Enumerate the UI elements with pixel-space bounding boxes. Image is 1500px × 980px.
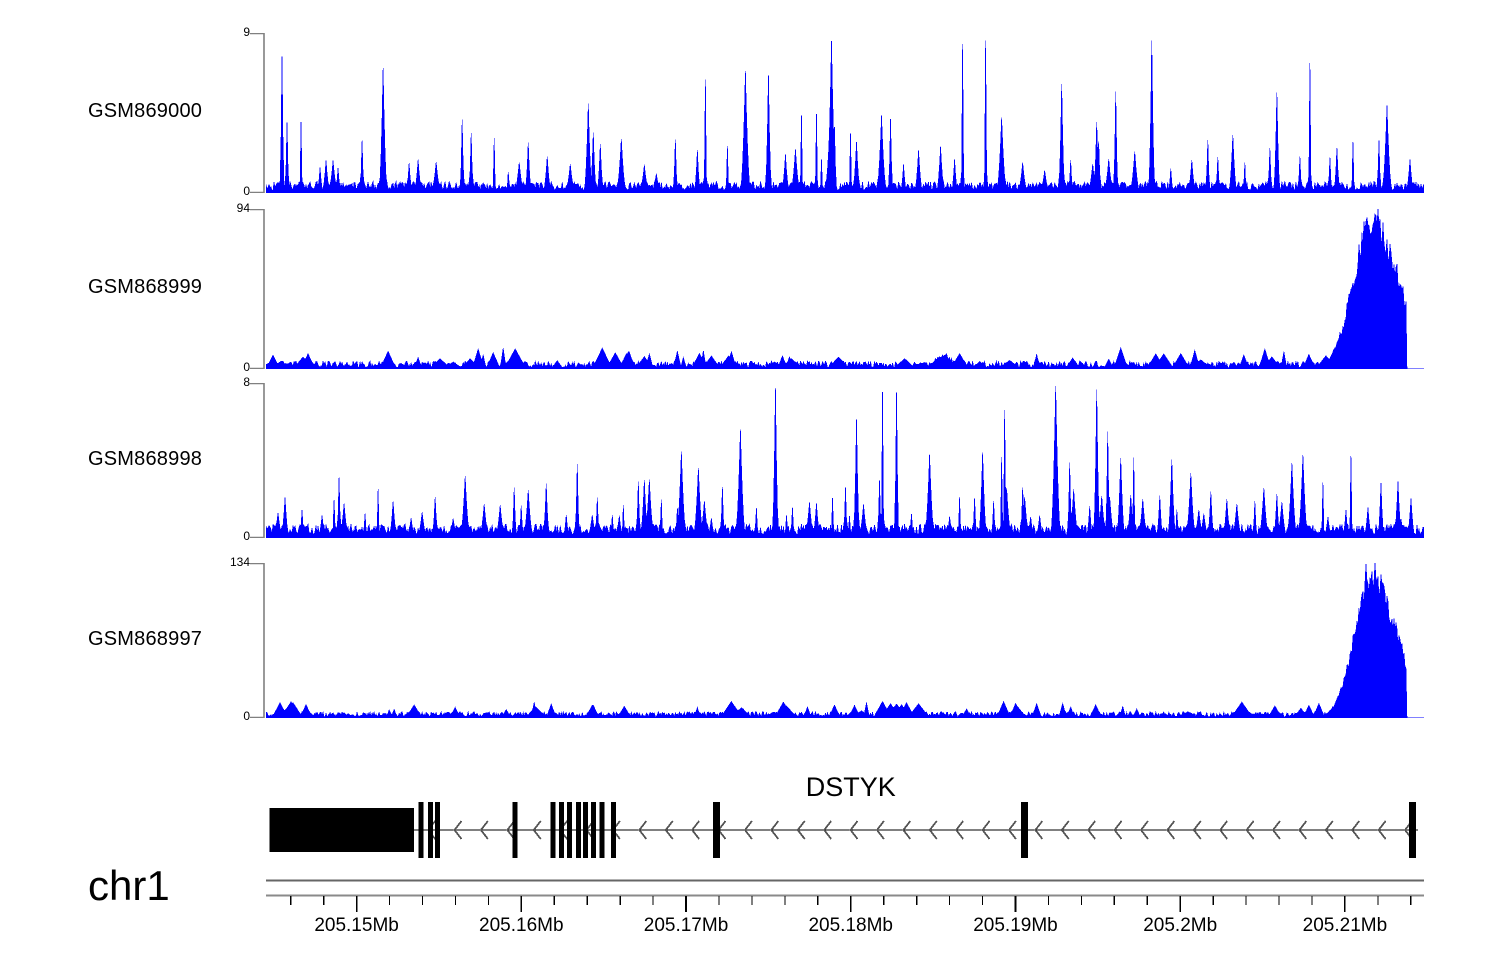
coverage-plot-gsm868997 (266, 563, 1424, 718)
gene-exon-bar (611, 802, 616, 858)
y-axis-min-gsm869000: 0 (194, 184, 250, 198)
gene-utr-block (269, 808, 414, 852)
gene-exon-bar (419, 802, 424, 858)
gene-exon-bar (428, 802, 433, 858)
ruler-tick-label-1: 205.16Mb (431, 915, 611, 937)
track-label-gsm868998: GSM868998 (88, 448, 202, 471)
coverage-plot-gsm868998 (266, 383, 1424, 538)
y-axis-bracket-gsm868999 (250, 209, 266, 369)
gene-model-track[interactable] (266, 780, 1424, 880)
y-axis-min-gsm868998: 0 (194, 529, 250, 543)
y-axis-bracket-gsm868997 (250, 563, 266, 718)
y-axis-max-gsm868997: 134 (194, 555, 250, 569)
gene-exon-bar (512, 802, 517, 858)
ruler-tick-label-2: 205.17Mb (596, 915, 776, 937)
track-label-gsm868999: GSM868999 (88, 276, 202, 299)
coverage-plot-gsm868999 (266, 209, 1424, 369)
gene-exon-bar (599, 802, 604, 858)
ruler-tick-label-4: 205.19Mb (925, 915, 1105, 937)
gene-exon-bar (583, 802, 588, 858)
genome-browser-view: GSM86900090GSM868999940GSM86899880GSM868… (0, 0, 1500, 980)
y-axis-max-gsm869000: 9 (194, 25, 250, 39)
gene-exon-bar (1409, 802, 1416, 858)
gene-exon-bar (435, 802, 440, 858)
gene-exon-bar (551, 802, 556, 858)
gene-exon-bar (567, 802, 572, 858)
ruler-tick-label-6: 205.21Mb (1255, 915, 1435, 937)
coordinate-ruler[interactable] (266, 878, 1424, 912)
y-axis-max-gsm868999: 94 (194, 201, 250, 215)
ruler-tick-label-0: 205.15Mb (267, 915, 447, 937)
ruler-tick-label-3: 205.18Mb (761, 915, 941, 937)
y-axis-bracket-gsm869000 (250, 33, 266, 193)
gene-exon-bar (1021, 802, 1028, 858)
y-axis-min-gsm868999: 0 (194, 360, 250, 374)
track-label-gsm868997: GSM868997 (88, 628, 202, 651)
y-axis-min-gsm868997: 0 (194, 709, 250, 723)
gene-exon-bar (713, 802, 720, 858)
chromosome-label: chr1 (88, 862, 170, 910)
gene-exon-bar (576, 802, 581, 858)
ruler-tick-label-5: 205.2Mb (1090, 915, 1270, 937)
y-axis-max-gsm868998: 8 (194, 375, 250, 389)
gene-exon-bar (559, 802, 564, 858)
gene-exon-bar (591, 802, 596, 858)
track-label-gsm869000: GSM869000 (88, 100, 202, 123)
coverage-plot-gsm869000 (266, 33, 1424, 193)
y-axis-bracket-gsm868998 (250, 383, 266, 538)
